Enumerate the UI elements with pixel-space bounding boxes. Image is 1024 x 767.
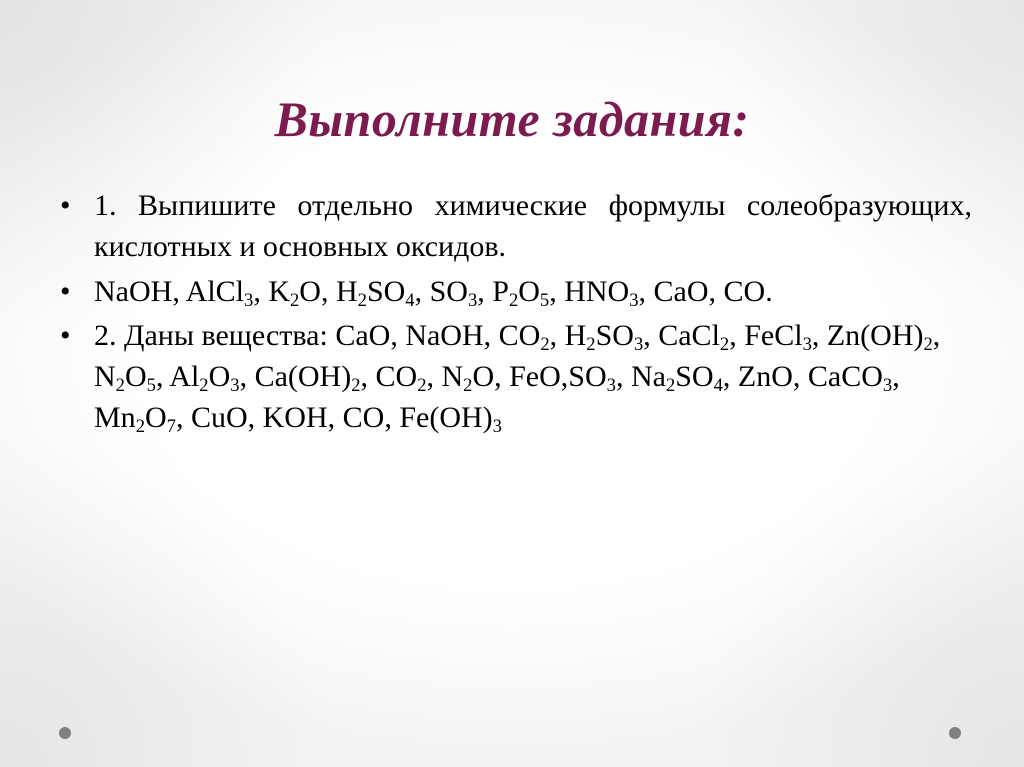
task-2-lead: 2. Даны вещества:: [94, 319, 328, 352]
formula-h2so3: H2SO3: [565, 319, 644, 352]
formula-na2so4: Na2SO4: [631, 360, 723, 393]
formula-k2o: K2O: [268, 275, 321, 308]
formula-n2o5: N2O5: [94, 360, 156, 393]
formula-h2so4: H2SO4: [336, 275, 415, 308]
slide-canvas: Выполните задания: • 1. Выпишите отдельн…: [0, 0, 1024, 767]
formula-cacl2: CaCl2: [658, 319, 729, 352]
formula-so3: SO3: [430, 275, 478, 308]
bullet-marker-icon: •: [60, 272, 78, 313]
task-2-text: 2. Даны вещества: CaO, NaOH, CO2, H2SO3,…: [94, 316, 972, 438]
formula-co: CO: [343, 401, 385, 434]
formula-feoh3: Fe(OH)3: [399, 401, 502, 434]
formula-feo: FeO: [509, 360, 561, 393]
bullet-marker-icon: •: [60, 186, 78, 227]
formula-zno: ZnO: [738, 360, 793, 393]
formula-n2o: N2O: [441, 360, 494, 393]
formula-co2: CO2: [376, 360, 427, 393]
list-item-formula-list-1: • NaOH, AlCl3, K2O, H2SO4, SO3, P2O5, HN…: [52, 272, 972, 313]
list-item-task-2: • 2. Даны вещества: CaO, NaOH, CO2, H2SO…: [52, 316, 972, 438]
formula-alcl3: AlCl3: [186, 275, 254, 308]
formula-p2o5: P2O5: [492, 275, 549, 308]
task-1-text: 1. Выпишите отдельно химические формулы …: [94, 186, 972, 268]
formula-koh: KOH: [263, 401, 328, 434]
list-item-task-1: • 1. Выпишите отдельно химические формул…: [52, 186, 972, 268]
formula-co: CO: [724, 275, 766, 308]
formula-caoh2: Ca(OH)2: [255, 360, 361, 393]
formula-cao: CaO: [335, 319, 390, 352]
formula-znoh2: Zn(OH)2: [827, 319, 933, 352]
formula-caco3: CaCO3: [808, 360, 892, 393]
formula-mn2o7: Mn2O7: [94, 401, 176, 434]
formula-naoh: NaOH: [94, 275, 172, 308]
formula-al2o3: Al2O3: [169, 360, 239, 393]
formula-cuo: CuO: [191, 401, 248, 434]
formula-so3: SO3: [568, 360, 616, 393]
footer-dot-left: [59, 727, 71, 739]
formula-co2: CO2: [499, 319, 550, 352]
task-list: • 1. Выпишите отдельно химические формул…: [52, 186, 972, 443]
formula-fecl3: FeCl3: [744, 319, 812, 352]
formula-hno3: HNO3: [564, 275, 638, 308]
formula-naoh: NaOH: [405, 319, 483, 352]
page-title: Выполните задания:: [0, 92, 1024, 147]
bullet-marker-icon: •: [60, 316, 78, 357]
footer-dot-right: [949, 727, 961, 739]
task-1-number: 1.: [94, 189, 117, 222]
formula-cao: CaO: [654, 275, 709, 308]
formula-list-1-text: NaOH, AlCl3, K2O, H2SO4, SO3, P2O5, HNO3…: [94, 272, 972, 313]
